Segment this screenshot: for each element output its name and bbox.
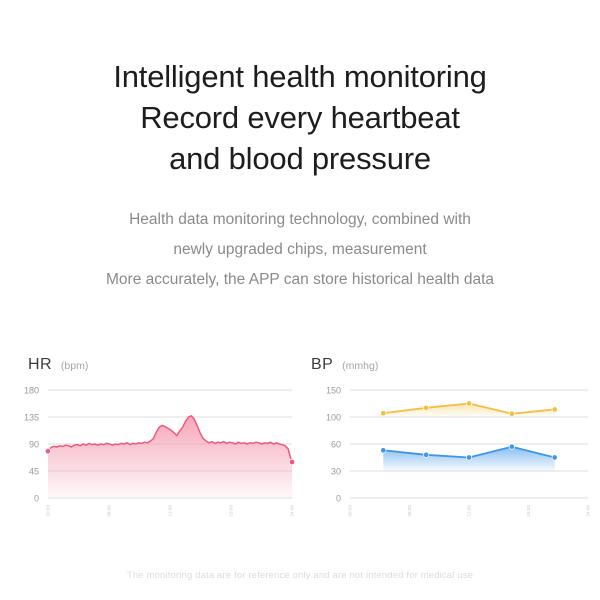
svg-text:135: 135 — [24, 412, 39, 422]
disclaimer-note: The monitoring data are for reference on… — [0, 570, 600, 581]
svg-text:06:00: 06:00 — [107, 505, 112, 517]
bp-line-chart: 1501006030000:0006:0012:0018:0024:00 — [300, 382, 600, 532]
svg-text:00:00: 00:00 — [46, 505, 51, 517]
subtitle-line-2: newly upgraded chips, measurement — [0, 235, 600, 265]
subtitle-line-1: Health data monitoring technology, combi… — [0, 205, 600, 235]
hr-chart-panel: HR (bpm) 1801359045000:0006:0012:0018:00… — [0, 352, 300, 532]
bp-chart-unit: (mmhg) — [342, 360, 378, 372]
svg-text:18:00: 18:00 — [526, 505, 531, 517]
svg-text:12:00: 12:00 — [168, 505, 173, 517]
bp-plot: 1501006030000:0006:0012:0018:0024:00 — [300, 382, 600, 532]
subtitle-block: Health data monitoring technology, combi… — [0, 205, 600, 295]
svg-text:90: 90 — [29, 439, 39, 449]
hero-heading: Intelligent health monitoring Record eve… — [0, 0, 600, 179]
svg-text:00:00: 00:00 — [348, 505, 353, 517]
hero-line-2: Record every heartbeat — [0, 97, 600, 138]
svg-text:0: 0 — [336, 493, 341, 503]
charts-row: HR (bpm) 1801359045000:0006:0012:0018:00… — [0, 352, 600, 532]
hr-chart-title: HR — [28, 356, 52, 374]
hr-chart-unit: (bpm) — [61, 360, 88, 372]
health-monitoring-promo-page: Intelligent health monitoring Record eve… — [0, 0, 600, 600]
svg-text:180: 180 — [24, 385, 39, 395]
hr-area-chart: 1801359045000:0006:0012:0018:0024:00 — [0, 382, 300, 532]
svg-text:24:00: 24:00 — [290, 505, 295, 517]
svg-text:100: 100 — [326, 412, 341, 422]
hero-line-1: Intelligent health monitoring — [0, 56, 600, 97]
subtitle-line-3: More accurately, the APP can store histo… — [0, 265, 600, 295]
svg-text:24:00: 24:00 — [586, 505, 591, 517]
bp-chart-title: BP — [311, 356, 333, 374]
svg-text:18:00: 18:00 — [229, 505, 234, 517]
svg-text:150: 150 — [326, 385, 341, 395]
svg-text:30: 30 — [331, 466, 341, 476]
hr-plot: 1801359045000:0006:0012:0018:0024:00 — [0, 382, 300, 532]
hero-line-3: and blood pressure — [0, 138, 600, 179]
bp-chart-header: BP (mmhg) — [311, 356, 378, 374]
svg-text:12:00: 12:00 — [467, 505, 472, 517]
svg-text:60: 60 — [331, 439, 341, 449]
hr-chart-header: HR (bpm) — [28, 356, 88, 374]
svg-text:45: 45 — [29, 466, 39, 476]
svg-text:0: 0 — [34, 493, 39, 503]
bp-chart-panel: BP (mmhg) 1501006030000:0006:0012:0018:0… — [300, 352, 600, 532]
svg-text:06:00: 06:00 — [407, 505, 412, 517]
